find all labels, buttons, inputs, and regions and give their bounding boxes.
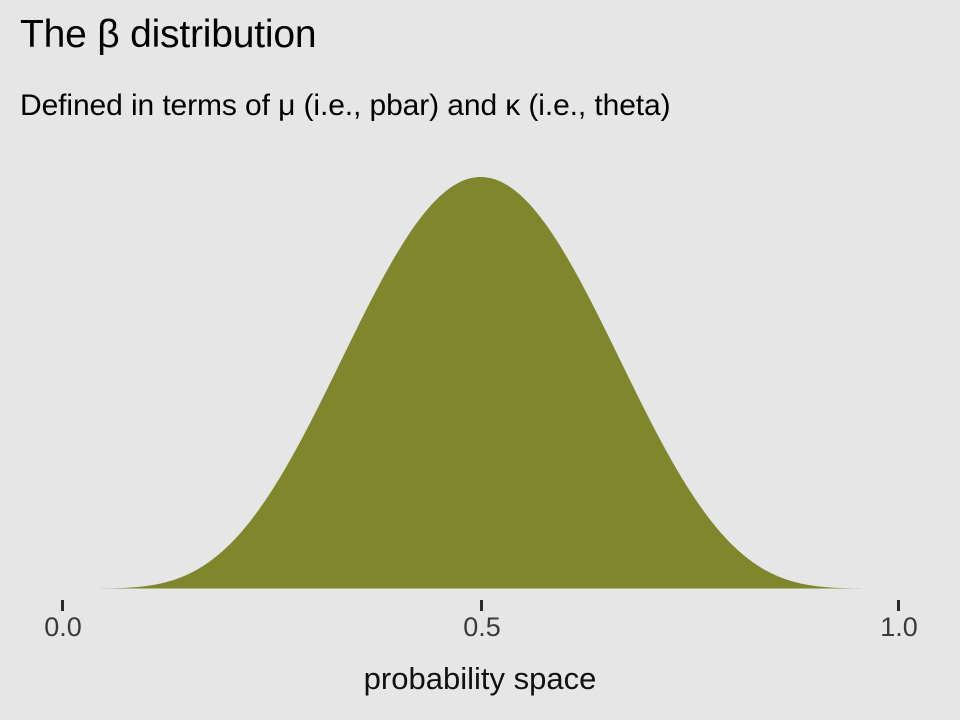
x-tick-mark-0 <box>61 600 64 611</box>
beta-distribution-plot: 0.0 0.5 1.0 probability space <box>0 0 960 720</box>
x-tick-label-0: 0.0 <box>44 612 82 642</box>
x-tick-mark-1 <box>480 600 483 611</box>
slide-canvas: The β distribution Defined in terms of μ… <box>0 0 960 720</box>
x-tick-label-1: 0.5 <box>463 612 501 642</box>
x-axis-label: probability space <box>364 660 597 698</box>
x-tick-mark-2 <box>897 600 900 611</box>
beta-density-area <box>63 177 900 589</box>
x-tick-label-2: 1.0 <box>880 612 918 642</box>
